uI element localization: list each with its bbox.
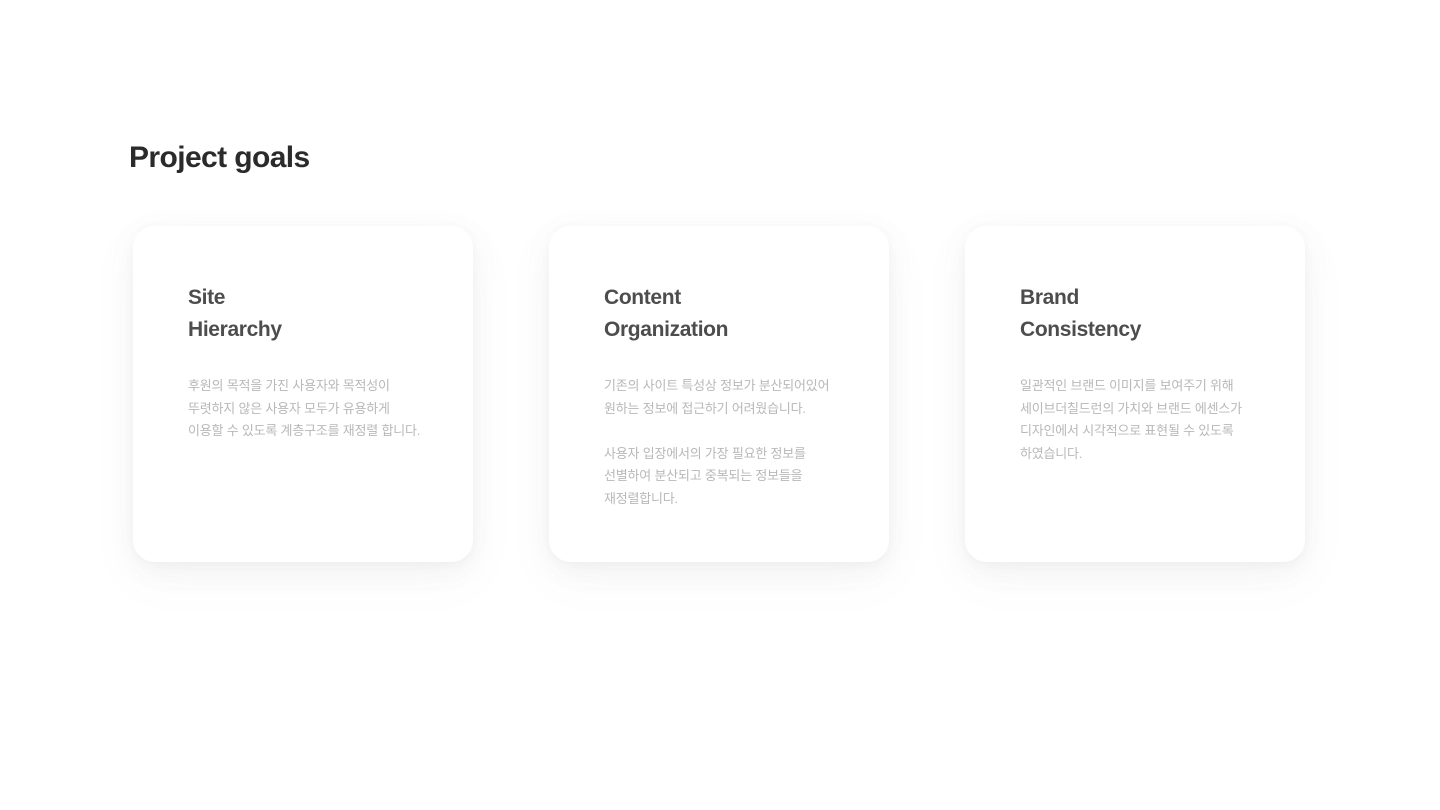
goal-card-brand-consistency[interactable]: Brand Consistency 일관적인 브랜드 이미지를 보여주기 위해 … [965, 226, 1305, 562]
goal-card-paragraph: 기존의 사이트 특성상 정보가 분산되어있어 원하는 정보에 접근하기 어려웠습… [604, 375, 849, 420]
goal-card-paragraph: 후원의 목적을 가진 사용자와 목적성이 뚜렷하지 않은 사용자 모두가 유용하… [188, 375, 433, 443]
goal-card-paragraph: 사용자 입장에서의 가장 필요한 정보를 선별하여 분산되고 중복되는 정보들을… [604, 443, 849, 511]
page-title: Project goals [129, 138, 310, 178]
goal-card-title: Site Hierarchy [188, 282, 433, 346]
goal-card-body: 후원의 목적을 가진 사용자와 목적성이 뚜렷하지 않은 사용자 모두가 유용하… [188, 375, 433, 443]
goal-card-content-organization[interactable]: Content Organization 기존의 사이트 특성상 정보가 분산되… [549, 226, 889, 562]
goal-cards-container: Site Hierarchy 후원의 목적을 가진 사용자와 목적성이 뚜렷하지… [133, 226, 1307, 562]
project-goals-page: Project goals Site Hierarchy 후원의 목적을 가진 … [0, 0, 1440, 810]
goal-card-paragraph: 일관적인 브랜드 이미지를 보여주기 위해 세이브더칠드런의 가치와 브랜드 에… [1020, 375, 1265, 465]
goal-card-title: Brand Consistency [1020, 282, 1265, 346]
goal-card-body: 일관적인 브랜드 이미지를 보여주기 위해 세이브더칠드런의 가치와 브랜드 에… [1020, 375, 1265, 465]
goal-card-title: Content Organization [604, 282, 849, 346]
goal-card-body: 기존의 사이트 특성상 정보가 분산되어있어 원하는 정보에 접근하기 어려웠습… [604, 375, 849, 510]
goal-card-site-hierarchy[interactable]: Site Hierarchy 후원의 목적을 가진 사용자와 목적성이 뚜렷하지… [133, 226, 473, 562]
